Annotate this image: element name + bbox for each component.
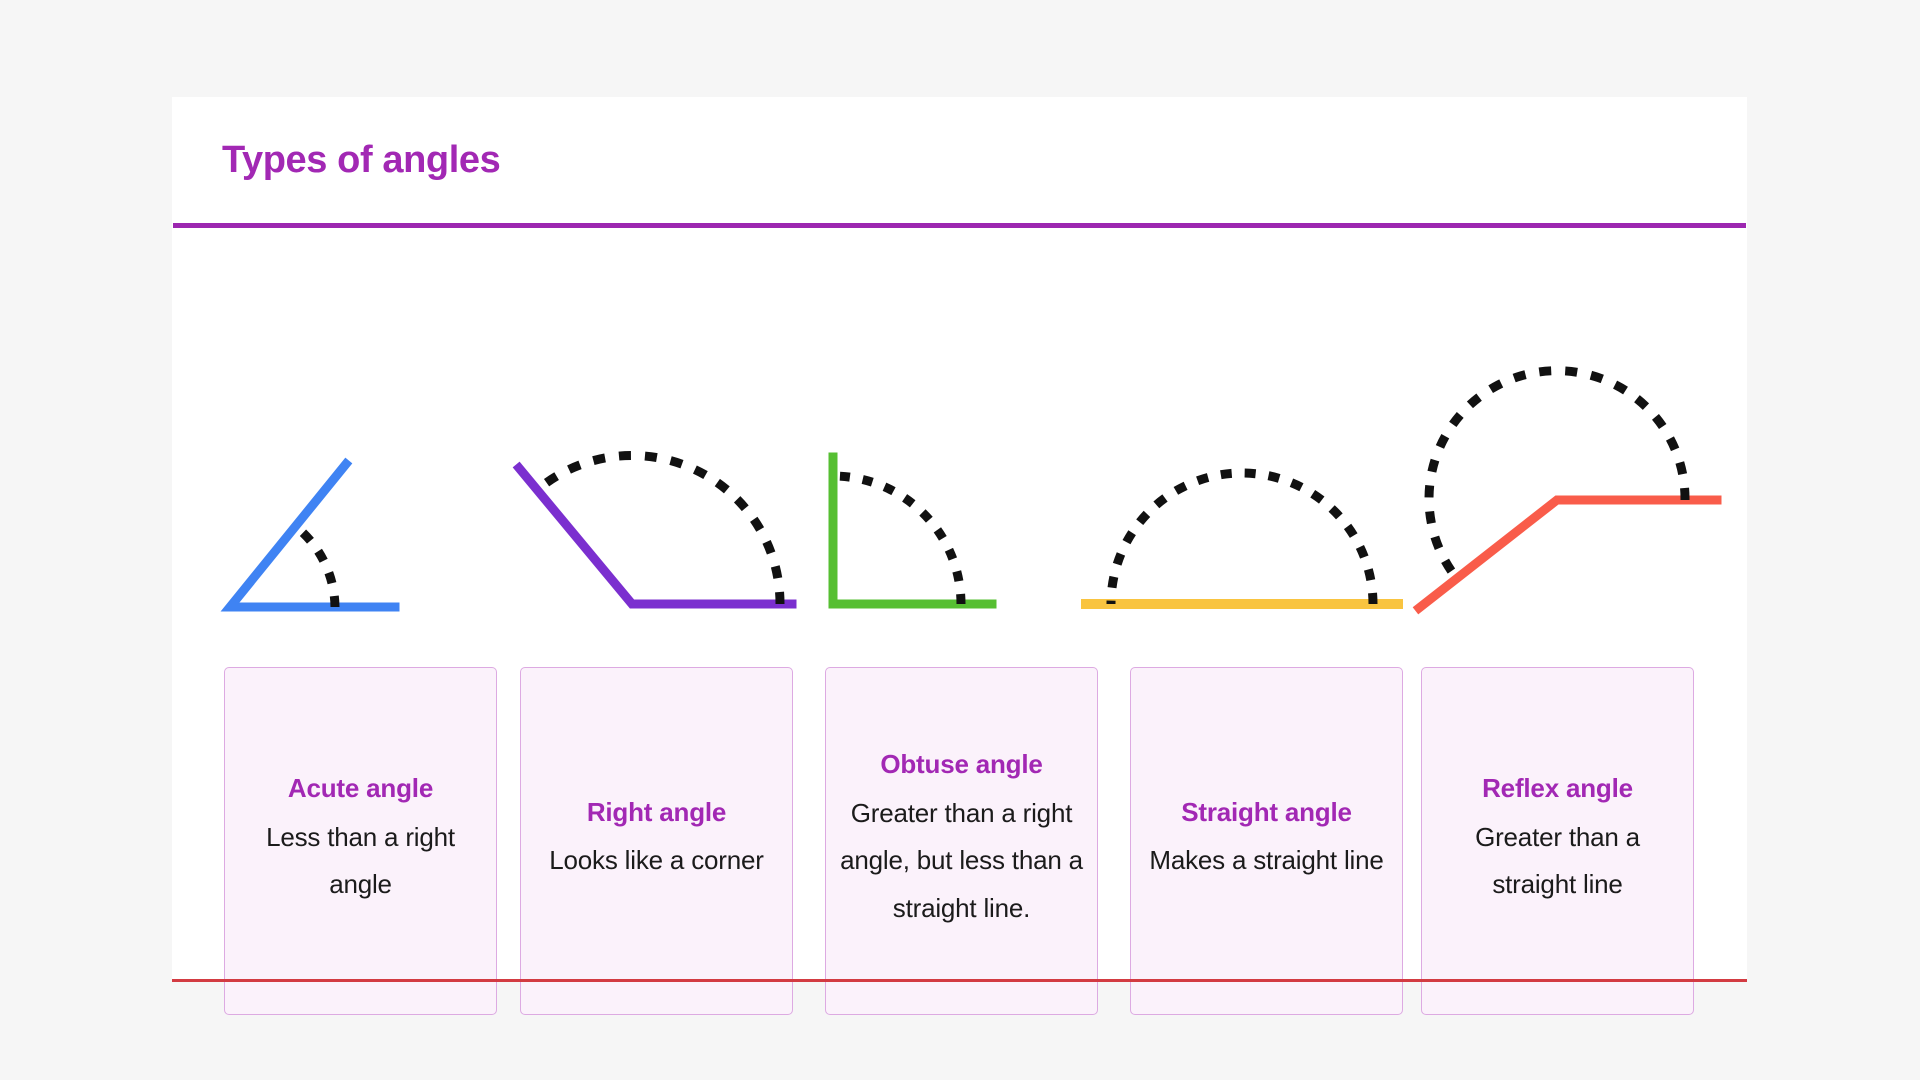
card-right-angle[interactable]: Right angle Looks like a corner bbox=[520, 667, 793, 1015]
obtuse-angle-rays bbox=[833, 457, 992, 604]
straight-angle-diagram bbox=[1077, 232, 1427, 622]
card-title: Right angle bbox=[587, 797, 726, 828]
acute-angle-rays bbox=[230, 464, 395, 607]
card-description: Greater than a right angle, but less tha… bbox=[840, 790, 1083, 933]
reflex-angle-diagram bbox=[1417, 232, 1747, 622]
acute-angle-diagram bbox=[220, 232, 520, 622]
reflex-angle-arc bbox=[1429, 371, 1685, 576]
card-acute-angle[interactable]: Acute angle Less than a right angle bbox=[224, 667, 497, 1015]
card-obtuse-angle[interactable]: Obtuse angle Greater than a right angle,… bbox=[825, 667, 1098, 1015]
card-description: Greater than a straight line bbox=[1436, 814, 1679, 910]
card-title: Obtuse angle bbox=[880, 749, 1042, 780]
footer-divider bbox=[172, 979, 1747, 982]
card-description: Looks like a corner bbox=[549, 837, 763, 885]
straight-angle-arc bbox=[1111, 473, 1373, 604]
right-angle-diagram bbox=[517, 232, 817, 622]
content-panel: Types of angles bbox=[172, 97, 1747, 982]
angle-cards-row: Acute angle Less than a right angle Righ… bbox=[172, 667, 1747, 1017]
header-divider bbox=[173, 223, 1746, 228]
reflex-angle-rays bbox=[1419, 500, 1717, 608]
card-title: Acute angle bbox=[288, 773, 433, 804]
page-title: Types of angles bbox=[222, 139, 500, 182]
angle-diagrams-row bbox=[172, 232, 1747, 622]
card-title: Straight angle bbox=[1181, 797, 1352, 828]
obtuse-angle-diagram bbox=[827, 232, 1087, 622]
card-reflex-angle[interactable]: Reflex angle Greater than a straight lin… bbox=[1421, 667, 1694, 1015]
card-description: Less than a right angle bbox=[239, 814, 482, 910]
card-straight-angle[interactable]: Straight angle Makes a straight line bbox=[1130, 667, 1403, 1015]
card-description: Makes a straight line bbox=[1149, 837, 1383, 885]
card-title: Reflex angle bbox=[1482, 773, 1633, 804]
page-root: Types of angles bbox=[0, 0, 1920, 1080]
obtuse-angle-arc bbox=[833, 476, 961, 604]
acute-angle-arc bbox=[294, 525, 335, 607]
panel-header: Types of angles bbox=[172, 97, 1747, 227]
right-angle-rays bbox=[519, 468, 792, 604]
